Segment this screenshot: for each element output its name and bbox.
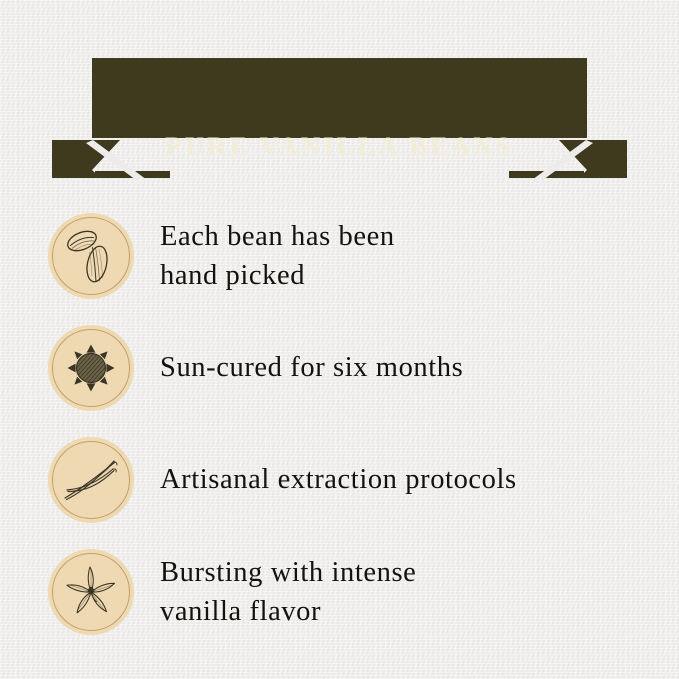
list-item: Each bean has been hand picked <box>0 200 679 312</box>
list-item-label: Sun-cured for six months <box>160 348 679 387</box>
feature-list: Each bean has been hand picked <box>0 200 679 648</box>
sun-icon <box>47 324 135 412</box>
vanilla-beans-icon <box>47 212 135 300</box>
ribbon-graphic <box>0 48 679 178</box>
list-item: Artisanal extraction protocols <box>0 424 679 536</box>
banner-ribbon: Pure Vanilla Beans <box>0 48 679 178</box>
crossed-vanilla-pods-icon <box>47 436 135 524</box>
ribbon-main-band <box>92 58 587 138</box>
vanilla-flower-icon <box>47 548 135 636</box>
list-item: Bursting with intense vanilla flavor <box>0 536 679 648</box>
list-item-label: Each bean has been hand picked <box>160 217 679 296</box>
list-item-label: Artisanal extraction protocols <box>160 460 679 499</box>
list-item-label: Bursting with intense vanilla flavor <box>160 553 679 632</box>
product-feature-poster: Pure Vanilla Beans <box>0 0 679 679</box>
list-item: Sun-cured for six months <box>0 312 679 424</box>
